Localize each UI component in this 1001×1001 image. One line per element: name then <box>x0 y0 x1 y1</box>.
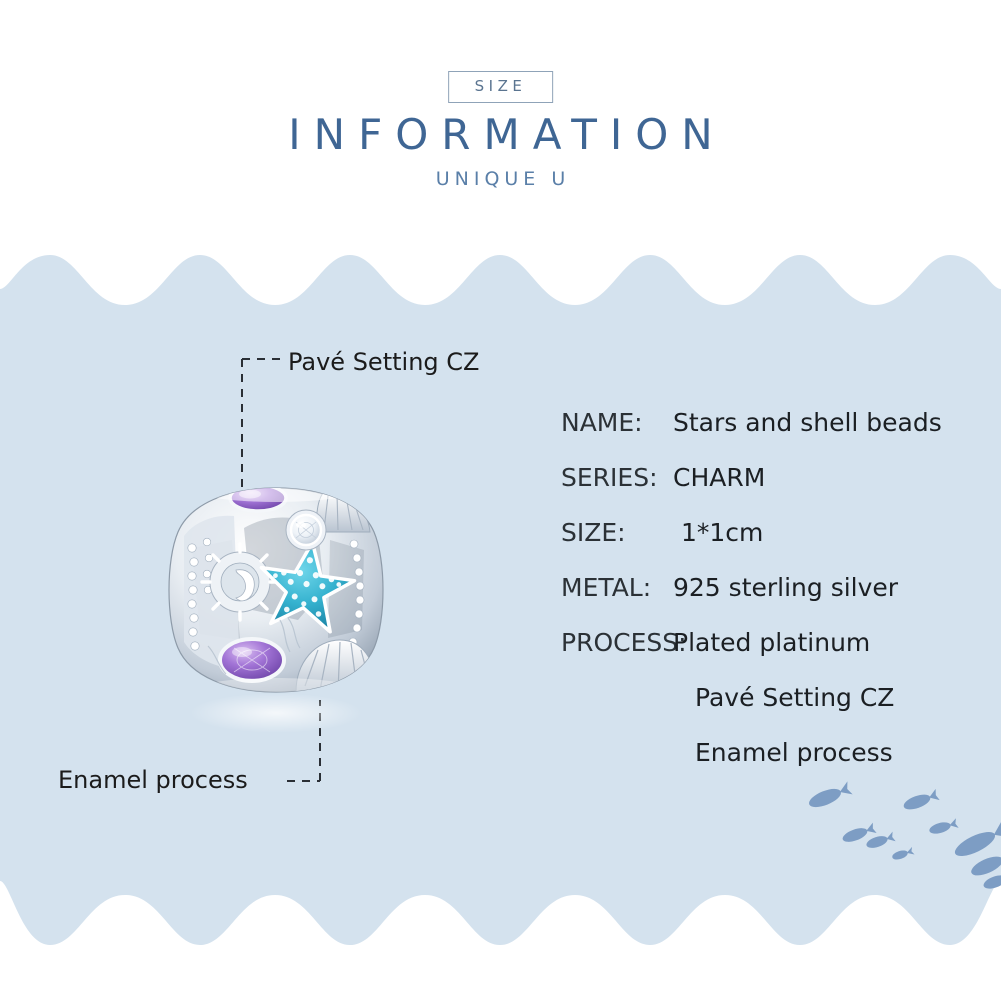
spec-value-series: CHARM <box>673 465 765 490</box>
spec-value-process-extra-1: Pavé Setting CZ <box>673 685 894 710</box>
spec-row-series: SERIES: CHARM <box>561 465 991 520</box>
spec-label-metal: METAL: <box>561 575 673 600</box>
specification-list: NAME: Stars and shell beads SERIES: CHAR… <box>561 410 991 795</box>
spec-value-process-extra-2: Enamel process <box>673 740 893 765</box>
bead-reflection <box>190 693 362 733</box>
product-info-graphic: SIZE INFORMATION UNIQUE U <box>0 0 1001 1001</box>
spec-label-series: SERIES: <box>561 465 673 490</box>
callout-label-enamel-process: Enamel process <box>58 768 248 792</box>
bead-illustration <box>148 470 404 770</box>
spec-row-process-extra-1: PROCESS: Pavé Setting CZ <box>561 685 991 740</box>
spec-label-process: PROCESS: <box>561 630 673 655</box>
spec-value-metal: 925 sterling silver <box>673 575 898 600</box>
spec-row-metal: METAL: 925 sterling silver <box>561 575 991 630</box>
spec-label-name: NAME: <box>561 410 673 435</box>
callout-label-pave-setting-cz: Pavé Setting CZ <box>288 350 479 374</box>
spec-row-size: SIZE: 1*1cm <box>561 520 991 575</box>
spec-value-size: 1*1cm <box>673 520 763 545</box>
cz-clear-round <box>286 510 326 550</box>
spec-value-process: Plated platinum <box>673 630 870 655</box>
spec-label-size: SIZE: <box>561 520 673 545</box>
spec-row-name: NAME: Stars and shell beads <box>561 410 991 465</box>
product-image-bead <box>148 470 404 770</box>
spec-row-process-extra-2: PROCESS: Enamel process <box>561 740 991 795</box>
cz-purple-bottom <box>220 639 284 681</box>
bead-body <box>169 484 383 695</box>
spec-value-name: Stars and shell beads <box>673 410 942 435</box>
spec-row-process: PROCESS: Plated platinum <box>561 630 991 685</box>
panel-content: Pavé Setting CZ Enamel process <box>0 0 1001 1001</box>
seahorse-motif <box>202 544 278 620</box>
